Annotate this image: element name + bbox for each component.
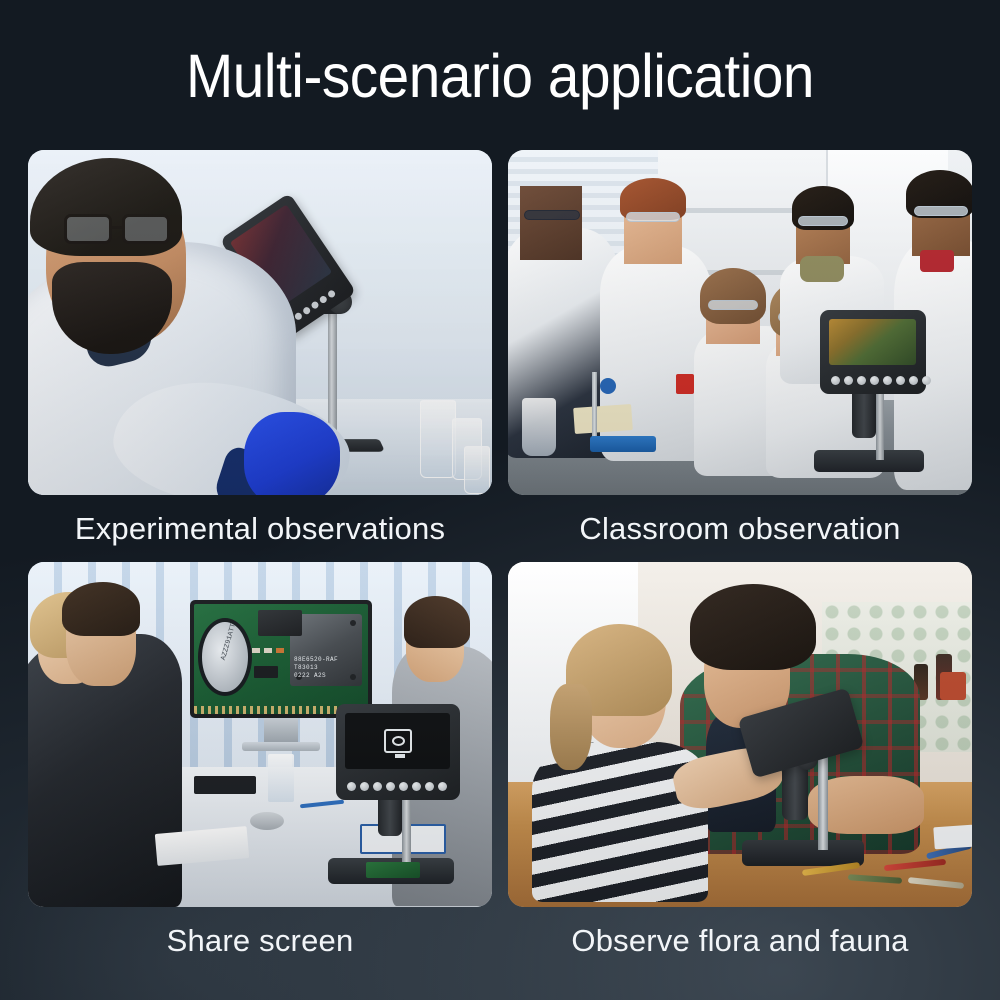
caption-experimental-observations: Experimental observations: [28, 495, 492, 562]
smd-chip: [258, 610, 302, 636]
blue-glove: [244, 412, 340, 495]
caption-classroom-observation: Classroom observation: [508, 495, 972, 562]
teacher-glasses: [524, 210, 580, 220]
photo-share-screen: AZZZ91ATT 88E6520-RAF T83013 0222 A2S: [28, 562, 492, 907]
man-hair: [690, 584, 816, 670]
beaker: [420, 400, 456, 478]
coin-marking: AZZZ91ATT: [220, 623, 238, 662]
safety-goggles: [798, 216, 848, 226]
smd-resistor: [276, 648, 284, 653]
colleague-hair: [62, 582, 140, 636]
share-screen-icon: [384, 729, 412, 753]
pcb-sample: [366, 862, 420, 878]
safety-goggles: [626, 212, 680, 222]
jar: [940, 672, 966, 700]
microscope-base: [742, 840, 864, 866]
red-shirt: [920, 250, 954, 272]
chip-markings: 88E6520-RAF T83013 0222 A2S: [294, 656, 338, 680]
product-feature-image: Multi-scenario application: [0, 0, 1000, 1000]
smd-resistor: [264, 648, 272, 653]
display-buttons: [831, 376, 931, 385]
display-glass: [829, 319, 916, 365]
glass-sample-holder: [268, 754, 294, 802]
scenario-cell-observe-flora-and-fauna: Observe flora and fauna: [508, 562, 972, 974]
magnified-circuit-board: AZZZ91ATT 88E6520-RAF T83013 0222 A2S: [194, 604, 368, 714]
flask: [522, 398, 556, 456]
monitor-foot: [242, 742, 320, 751]
clamp-knob: [600, 378, 616, 394]
page-title: Multi-scenario application: [35, 40, 965, 112]
photo-classroom-observation: [508, 150, 972, 495]
smd-resistor: [252, 648, 260, 653]
display-buttons: [347, 782, 447, 791]
notebook: [573, 404, 633, 434]
colleague-hair: [404, 596, 470, 648]
monitor-stand: [264, 718, 298, 744]
scenario-grid: Experimental observations: [28, 150, 972, 974]
caption-share-screen: Share screen: [28, 907, 492, 974]
tablet: [194, 776, 256, 794]
component-coin: AZZZ91ATT: [198, 618, 252, 696]
microscope-display: [820, 310, 926, 394]
smd-chip: [254, 666, 278, 678]
safety-goggles: [914, 206, 968, 216]
safety-goggles: [708, 300, 758, 310]
retort-base: [590, 436, 656, 452]
scenario-cell-classroom-observation: Classroom observation: [508, 150, 972, 562]
caption-observe-flora-and-fauna: Observe flora and fauna: [508, 907, 972, 974]
teacher-head: [520, 186, 582, 260]
turtleneck: [800, 256, 844, 282]
photo-experimental-observations: [28, 150, 492, 495]
paper: [933, 825, 972, 850]
display-glass: [345, 713, 450, 769]
eyeglasses: [64, 212, 182, 246]
microscope-column: [876, 386, 884, 460]
desktop-monitor: AZZZ91ATT 88E6520-RAF T83013 0222 A2S: [190, 600, 372, 718]
girl-braid: [550, 684, 592, 770]
scenario-cell-share-screen: AZZZ91ATT 88E6520-RAF T83013 0222 A2S: [28, 562, 492, 974]
red-block: [676, 374, 694, 394]
student-hair: [700, 268, 766, 324]
metal-ring: [250, 812, 284, 830]
scenario-cell-experimental-observations: Experimental observations: [28, 150, 492, 562]
photo-observe-flora-and-fauna: [508, 562, 972, 907]
microscope-display: [336, 704, 460, 800]
microscope-base: [814, 450, 924, 472]
beaker: [464, 446, 490, 494]
